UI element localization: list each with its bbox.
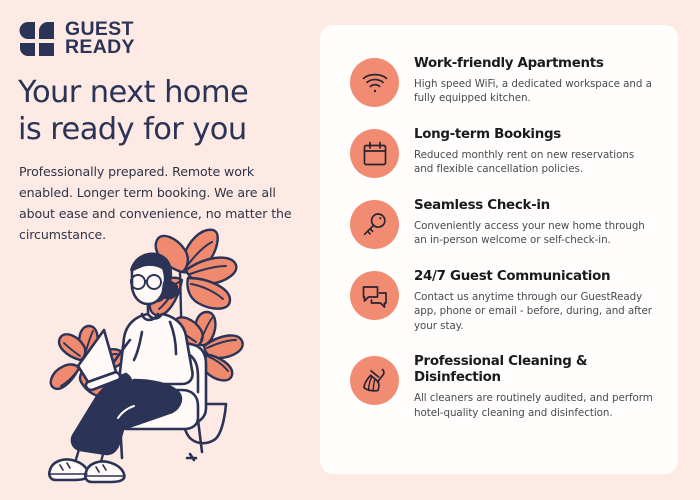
brand-logo[interactable]: GUEST READY: [18, 20, 135, 58]
feature-title: 24/7 Guest Communication: [414, 269, 656, 286]
page-title: Your next home is ready for you: [18, 74, 308, 148]
feature-description: All cleaners are routinely audited, and …: [414, 391, 656, 420]
feature-text: Professional Cleaning & Disinfection All…: [414, 353, 656, 421]
chat-bubbles-icon: [350, 271, 399, 320]
brand-name-line2: READY: [65, 39, 135, 57]
feature-title: Seamless Check-in: [414, 198, 656, 215]
feature-title: Work-friendly Apartments: [414, 56, 656, 73]
feature-item-seamless-check-in[interactable]: Seamless Check-in Conveniently access yo…: [350, 197, 656, 249]
feature-item-guest-communication[interactable]: 24/7 Guest Communication Contact us anyt…: [350, 268, 656, 334]
feature-description: High speed WiFi, a dedicated workspace a…: [414, 77, 656, 106]
promo-page: GUEST READY Your next home is ready for …: [0, 0, 700, 500]
feature-item-work-friendly-apartments[interactable]: Work-friendly Apartments High speed WiFi…: [350, 55, 656, 107]
hero-panel: GUEST READY Your next home is ready for …: [0, 0, 320, 500]
guestready-squares-logo-icon: [18, 20, 56, 58]
hero-illustration: [30, 222, 310, 484]
feature-text: 24/7 Guest Communication Contact us anyt…: [414, 268, 656, 334]
feature-description: Contact us anytime through our GuestRead…: [414, 290, 656, 334]
feature-item-long-term-bookings[interactable]: Long-term Bookings Reduced monthly rent …: [350, 126, 656, 178]
feature-description: Conveniently access your new home throug…: [414, 219, 656, 248]
feature-text: Work-friendly Apartments High speed WiFi…: [414, 55, 656, 106]
key-icon: [350, 200, 399, 249]
broom-icon: [350, 356, 399, 405]
feature-item-professional-cleaning[interactable]: Professional Cleaning & Disinfection All…: [350, 353, 656, 421]
calendar-icon: [350, 129, 399, 178]
feature-title: Professional Cleaning & Disinfection: [414, 354, 656, 388]
feature-text: Seamless Check-in Conveniently access yo…: [414, 197, 656, 248]
features-card: Work-friendly Apartments High speed WiFi…: [320, 25, 678, 474]
wifi-icon: [350, 58, 399, 107]
feature-description: Reduced monthly rent on new reservations…: [414, 148, 656, 177]
feature-text: Long-term Bookings Reduced monthly rent …: [414, 126, 656, 177]
features-list: Work-friendly Apartments High speed WiFi…: [320, 25, 678, 420]
brand-wordmark: GUEST READY: [65, 21, 135, 57]
feature-title: Long-term Bookings: [414, 127, 656, 144]
